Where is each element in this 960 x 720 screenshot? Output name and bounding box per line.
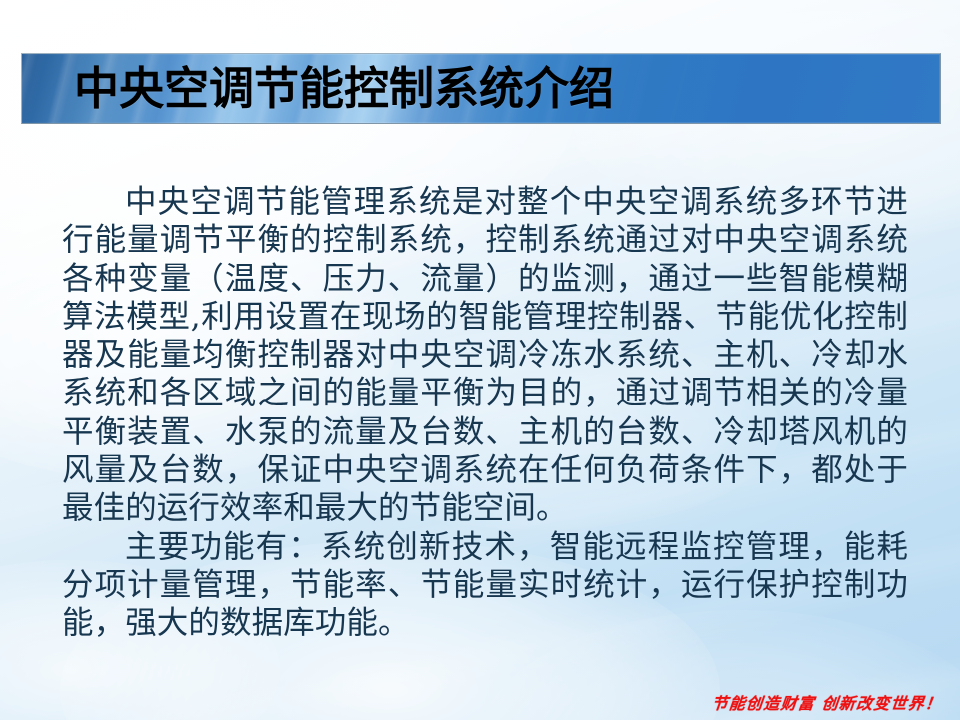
body-paragraph-1: 中央空调节能管理系统是对整个中央空调系统多环节进行能量调节平衡的控制系统，控制系… (62, 183, 908, 528)
slide-body: 中央空调节能管理系统是对整个中央空调系统多环节进行能量调节平衡的控制系统，控制系… (62, 183, 908, 643)
slide-title-banner: 中央空调节能控制系统介绍 (21, 53, 941, 124)
slide-canvas: 中央空调节能控制系统介绍 中央空调节能管理系统是对整个中央空调系统多环节进行能量… (0, 0, 960, 720)
footer-slogan: 节能创造财富 创新改变世界！ (710, 690, 943, 714)
page-title: 中央空调节能控制系统介绍 (74, 54, 614, 123)
body-paragraph-2: 主要功能有：系统创新技术，智能远程监控管理，能耗分项计量管理，节能率、节能量实时… (62, 528, 908, 643)
